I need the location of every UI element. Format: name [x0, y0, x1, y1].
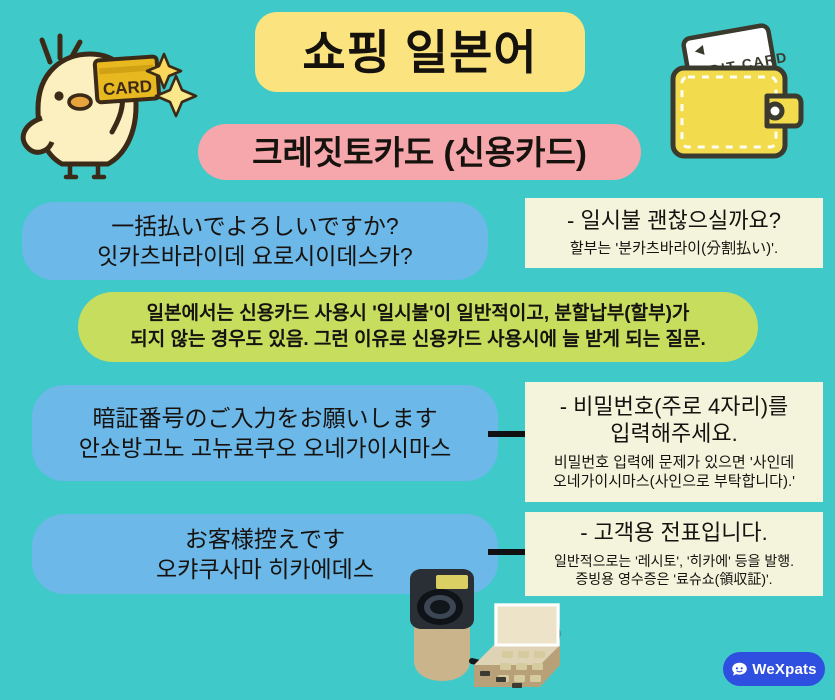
- explanation-box: 일본에서는 신용카드 사용시 '일시불'이 일반적이고, 분할납부(할부)가 되…: [78, 292, 758, 362]
- meaning-box-1: - 일시불 괜찮으실까요? 할부는 '분카츠바라이(分割払い)'.: [525, 198, 823, 268]
- chick-mascot-illustration: CARD: [8, 14, 198, 194]
- explanation-line-2: 되지 않는 경우도 있음. 그런 이유로 신용카드 사용시에 늘 받게 되는 질…: [130, 327, 706, 353]
- card-terminal-illustration: [400, 565, 595, 697]
- phrase-japanese-3: お客様控えです: [185, 524, 345, 554]
- meaning-main-1: - 일시불 괜찮으실까요?: [567, 208, 781, 234]
- meaning-note-2-line-2: 오네가이시마스(사인으로 부탁합니다).': [553, 472, 795, 492]
- meaning-main-3: - 고객용 전표입니다.: [580, 520, 768, 546]
- phrase-korean-reading-2: 안쇼방고노 고뉴료쿠오 오네가이시마스: [79, 433, 452, 463]
- meaning-main-2-line-1: - 비밀번호(주로 4자리)를: [560, 393, 789, 421]
- phrase-korean-reading-3: 오캬쿠사마 히카에데스: [156, 554, 374, 584]
- svg-text:CARD: CARD: [102, 77, 152, 99]
- poster-title-pill: 쇼핑 일본어: [255, 12, 585, 92]
- phrase-box-2: 暗証番号のご入力をお願いします 안쇼방고노 고뉴료쿠오 오네가이시마스: [32, 385, 498, 481]
- phrase-japanese-2: 暗証番号のご入力をお願いします: [93, 403, 438, 433]
- page-title: 쇼핑 일본어: [302, 29, 537, 76]
- wallet-illustration: CREDIT CARD: [655, 18, 823, 170]
- meaning-note-2-line-1: 비밀번호 입력에 문제가 있으면 '사인데: [554, 453, 794, 473]
- phrase-box-1: 一括払いでよろしいですか? 잇카츠바라이데 요로시이데스카?: [22, 202, 488, 280]
- explanation-line-1: 일본에서는 신용카드 사용시 '일시불'이 일반적이고, 분할납부(할부)가: [147, 301, 690, 327]
- phrase-korean-reading-1: 잇카츠바라이데 요로시이데스카?: [97, 241, 412, 271]
- phrase-japanese-1: 一括払いでよろしいですか?: [111, 211, 398, 241]
- meaning-note-1: 할부는 '분카츠바라이(分割払い)'.: [570, 239, 778, 259]
- meaning-box-2: - 비밀번호(주로 4자리)를 입력해주세요. 비밀번호 입력에 문제가 있으면…: [525, 382, 823, 502]
- poster-subtitle-pill: 크레짓토카도 (신용카드): [198, 124, 641, 180]
- logo-text: WeXpats: [752, 662, 816, 677]
- meaning-note-3-line-2: 증빙용 영수증은 '료슈쇼(領収証)'.: [575, 570, 772, 588]
- poster-canvas: CARD 쇼핑 일본어 CREDIT CARD: [0, 0, 835, 700]
- wexpats-logo[interactable]: WeXpats: [723, 652, 825, 686]
- page-subtitle: 크레짓토카도 (신용카드): [252, 136, 587, 169]
- mascot-card: CARD: [95, 56, 160, 102]
- speech-bubble-icon: [731, 661, 748, 678]
- meaning-main-2-line-2: 입력해주세요.: [610, 420, 738, 448]
